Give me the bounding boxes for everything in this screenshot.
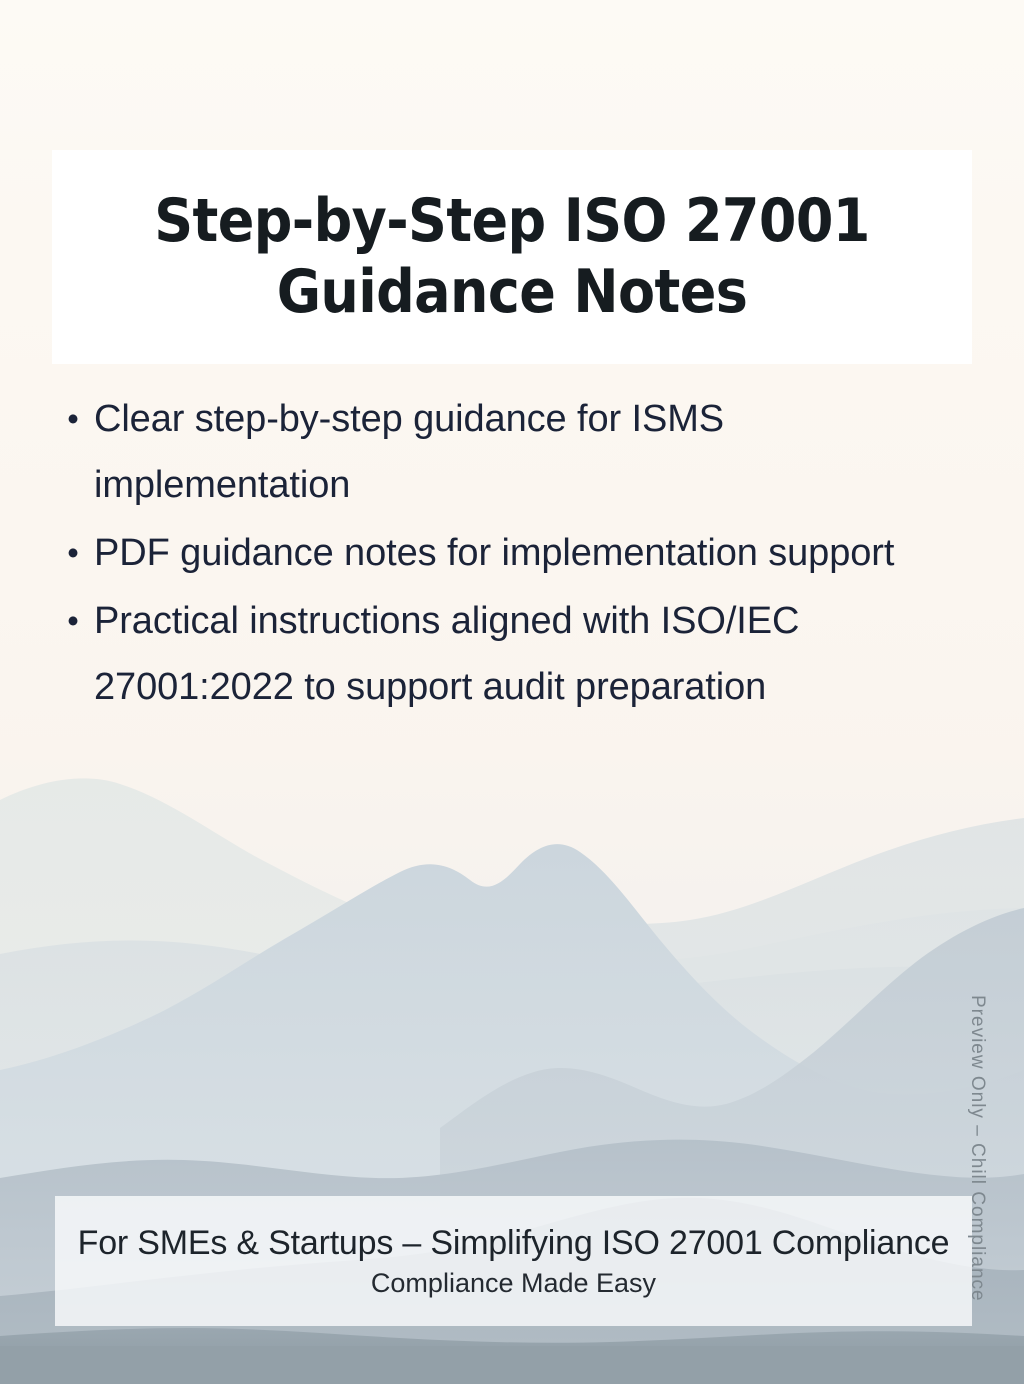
footer-tagline-secondary: Compliance Made Easy [371, 1266, 656, 1300]
list-item-label: Practical instructions aligned with ISO/… [94, 588, 982, 720]
footer-tagline-primary: For SMEs & Startups – Simplifying ISO 27… [78, 1222, 950, 1264]
bullet-dot-icon: • [52, 386, 94, 452]
footer-banner: For SMEs & Startups – Simplifying ISO 27… [55, 1196, 972, 1326]
list-item: • Clear step-by-step guidance for ISMS i… [52, 386, 982, 518]
bullet-dot-icon: • [52, 588, 94, 654]
preview-watermark: Preview Only – Chill Compliance [966, 995, 988, 1302]
list-item-label: Clear step-by-step guidance for ISMS imp… [94, 386, 982, 518]
list-item-label: PDF guidance notes for implementation su… [94, 520, 982, 586]
bullet-dot-icon: • [52, 520, 94, 586]
list-item: • Practical instructions aligned with IS… [52, 588, 982, 720]
title-card: Step-by-Step ISO 27001 Guidance Notes [52, 150, 972, 364]
feature-bullet-list: • Clear step-by-step guidance for ISMS i… [52, 386, 982, 722]
page-title: Step-by-Step ISO 27001 Guidance Notes [114, 186, 910, 328]
slide-canvas: Step-by-Step ISO 27001 Guidance Notes • … [0, 0, 1024, 1384]
list-item: • PDF guidance notes for implementation … [52, 520, 982, 586]
